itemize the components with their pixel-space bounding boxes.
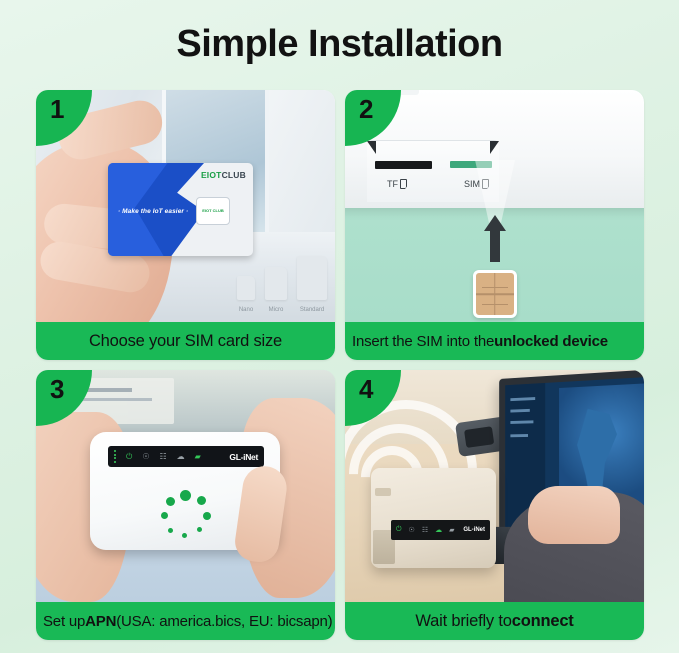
tf-card-icon (400, 179, 407, 189)
step-caption-2: Insert the SIM into the unlocked device (345, 322, 644, 360)
caption-text: Set up (43, 613, 85, 630)
sim-size-micro: Micro (265, 267, 287, 300)
internet-icon: ☉ (142, 453, 149, 461)
gl-inet-router: ⏻ ☉ ☷ ☁ ▰ GL-iNet (371, 468, 496, 568)
sim-size-nano: Nano (237, 276, 255, 300)
card-tagline: · Make the IoT easier · (118, 208, 188, 215)
caption-bold: APN (85, 613, 116, 630)
chip-contacts (482, 287, 508, 305)
sim-chip (473, 270, 517, 318)
sim-size-label: Micro (269, 307, 284, 313)
router-brand-label: GL-iNet (463, 527, 485, 533)
step-caption-4: Wait briefly to connect (345, 602, 644, 640)
caption-text: Insert the SIM into the (352, 333, 494, 350)
steps-grid: EIOTCLUB · Make the IoT easier · EIOT CL… (36, 90, 644, 645)
loading-spinner-icon (157, 490, 213, 546)
router-led-panel: ⏻ ☉ ☷ ☁ ▰ GL-iNet (391, 520, 490, 540)
sim-card: EIOTCLUB · Make the IoT easier · EIOT CL… (108, 163, 253, 256)
router-led-panel: ⏻ ☉ ☷ ☁ ▰ GL-iNet (108, 446, 264, 467)
caption-bold: unlocked device (494, 333, 608, 350)
sim-size-label: Standard (300, 307, 324, 313)
wifi-icon: ☁ (177, 453, 185, 461)
step-4-image: ⏻ ☉ ☷ ☁ ▰ GL-iNet (345, 370, 644, 602)
logo-text-club: CLUB (222, 170, 246, 180)
step-3-image: ⏻ ☉ ☷ ☁ ▰ GL-iNet (36, 370, 335, 602)
page-title: Simple Installation (0, 0, 679, 63)
caption-suffix: (USA: america.bics, EU: bicsapn) (116, 613, 332, 630)
lan-icon: ☷ (160, 453, 167, 461)
tf-slot-label: TF (387, 179, 398, 189)
usb-port (375, 488, 391, 496)
step-panel-2: TF SIM 2 Insert the SIM into the unlocke… (345, 90, 644, 360)
battery-dots-icon (114, 450, 116, 463)
sim-punchout: EIOT CLUB (196, 197, 230, 225)
sim-size-comparison: Nano Micro Standard (237, 256, 327, 300)
step-caption-3: Set up APN (USA: america.bics, EU: bicsa… (36, 602, 335, 640)
caption-bold: connect (512, 612, 574, 631)
typing-hand-graphic (528, 486, 620, 544)
power-icon: ⏻ (126, 453, 132, 461)
caption-text: Wait briefly to (415, 612, 511, 631)
caption-text: Choose your SIM card size (89, 332, 282, 351)
tf-card-slot (375, 161, 432, 169)
sim-size-standard: Standard (297, 256, 327, 300)
wifi-icon: ☁ (435, 526, 442, 534)
sim-size-label: Nano (239, 307, 253, 313)
step-panel-3: ⏻ ☉ ☷ ☁ ▰ GL-iNet (36, 370, 335, 640)
up-arrow-icon (490, 230, 500, 262)
power-icon: ⏻ (396, 526, 402, 534)
signal-icon: ▰ (449, 526, 454, 534)
logo-text-eiot: EIOT (201, 170, 222, 180)
step-1-image: EIOTCLUB · Make the IoT easier · EIOT CL… (36, 90, 335, 322)
step-2-image: TF SIM (345, 90, 644, 322)
eiotclub-logo: EIOTCLUB (201, 170, 246, 180)
internet-icon: ☉ (409, 526, 415, 534)
step-panel-4: ⏻ ☉ ☷ ☁ ▰ GL-iNet 4 Wait briefly to conn… (345, 370, 644, 640)
lan-icon: ☷ (422, 526, 428, 534)
step-panel-1: EIOTCLUB · Make the IoT easier · EIOT CL… (36, 90, 335, 360)
router-brand-label: GL-iNet (229, 452, 258, 462)
punchout-label: EIOT CLUB (202, 209, 224, 213)
step-caption-1: Choose your SIM card size (36, 322, 335, 360)
signal-icon: ▰ (195, 453, 201, 461)
tf-slot-label-group: TF (387, 179, 407, 189)
